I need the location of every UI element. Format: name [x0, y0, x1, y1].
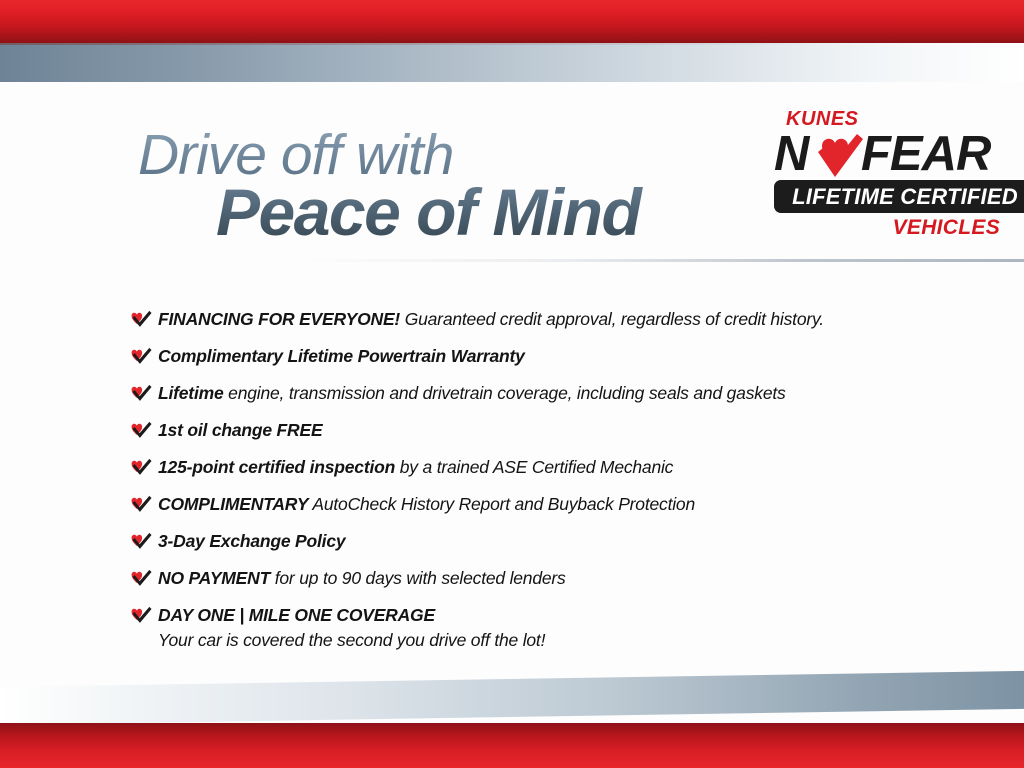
headline-line-2: Peace of Mind	[216, 178, 738, 247]
benefit-text-bold: NO PAYMENT	[158, 568, 270, 588]
logo-vehicles-text: VEHICLES	[893, 216, 1000, 240]
benefit-subtext: Your car is covered the second you drive…	[158, 629, 545, 651]
benefit-text: Lifetime engine, transmission and drivet…	[158, 382, 786, 404]
benefit-item: 1st oil change FREE	[130, 419, 950, 443]
heart-check-bullet-icon	[130, 569, 158, 591]
benefit-text: FINANCING FOR EVERYONE! Guaranteed credi…	[158, 308, 824, 330]
headline-block: Drive off with Peace of Mind	[138, 126, 738, 247]
benefit-text: 3-Day Exchange Policy	[158, 530, 345, 552]
benefit-text-bold: 1st oil change FREE	[158, 420, 322, 440]
benefit-item: FINANCING FOR EVERYONE! Guaranteed credi…	[130, 308, 950, 332]
benefit-text-rest: Guaranteed credit approval, regardless o…	[400, 309, 824, 329]
benefit-text-bold: COMPLIMENTARY	[158, 494, 308, 514]
benefit-item: 3-Day Exchange Policy	[130, 530, 950, 554]
benefit-text-rest: by a trained ASE Certified Mechanic	[395, 457, 673, 477]
benefit-text-rest: AutoCheck History Report and Buyback Pro…	[308, 494, 695, 514]
heart-check-bullet-icon	[130, 421, 158, 443]
top-red-band	[0, 0, 1024, 43]
heart-check-bullet-icon	[130, 606, 158, 628]
benefit-text: Complimentary Lifetime Powertrain Warran…	[158, 345, 525, 367]
heart-check-bullet-icon	[130, 384, 158, 406]
logo-letter-n: N	[774, 128, 808, 180]
benefit-text-bold: 3-Day Exchange Policy	[158, 531, 345, 551]
benefit-text-bold: Complimentary Lifetime Powertrain Warran…	[158, 346, 525, 366]
heart-check-icon	[808, 132, 864, 184]
benefit-item: NO PAYMENT for up to 90 days with select…	[130, 567, 950, 591]
benefit-text-bold: 125-point certified inspection	[158, 457, 395, 477]
benefit-item: Lifetime engine, transmission and drivet…	[130, 382, 950, 406]
logo-word-fear: FEAR	[861, 128, 990, 180]
benefit-text-rest: for up to 90 days with selected lenders	[270, 568, 566, 588]
benefit-text-rest: engine, transmission and drivetrain cove…	[224, 383, 786, 403]
benefit-item: COMPLIMENTARY AutoCheck History Report a…	[130, 493, 950, 517]
benefit-text: 125-point certified inspection by a trai…	[158, 456, 673, 478]
heart-check-bullet-icon	[130, 458, 158, 480]
benefit-text: 1st oil change FREE	[158, 419, 322, 441]
promo-poster: Drive off with Peace of Mind KUNES N FEA…	[0, 0, 1024, 768]
benefit-item: DAY ONE | MILE ONE COVERAGEYour car is c…	[130, 604, 950, 652]
benefit-item: Complimentary Lifetime Powertrain Warran…	[130, 345, 950, 369]
logo-lifetime-certified-bar: LIFETIME CERTIFIED	[774, 180, 1024, 213]
benefit-text-bold: FINANCING FOR EVERYONE!	[158, 309, 400, 329]
benefits-list: FINANCING FOR EVERYONE! Guaranteed credi…	[130, 308, 950, 665]
kunes-no-fear-logo: KUNES N FEAR LIFETIME CERTIFIED VEHICLES	[770, 108, 1024, 246]
benefit-text: DAY ONE | MILE ONE COVERAGEYour car is c…	[158, 604, 545, 652]
benefit-text: NO PAYMENT for up to 90 days with select…	[158, 567, 566, 589]
bottom-red-band	[0, 723, 1024, 768]
logo-lifetime-certified-text: LIFETIME CERTIFIED	[792, 184, 1018, 210]
heart-check-bullet-icon	[130, 532, 158, 554]
heart-check-bullet-icon	[130, 310, 158, 332]
bottom-gray-band	[0, 671, 1024, 725]
top-gray-band	[0, 43, 1024, 82]
logo-wordmark: N FEAR	[774, 128, 1024, 180]
benefit-text-bold: DAY ONE | MILE ONE COVERAGE	[158, 605, 435, 625]
benefit-text-bold: Lifetime	[158, 383, 224, 403]
headline-divider	[300, 259, 1024, 262]
heart-check-bullet-icon	[130, 347, 158, 369]
benefit-item: 125-point certified inspection by a trai…	[130, 456, 950, 480]
heart-check-bullet-icon	[130, 495, 158, 517]
benefit-text: COMPLIMENTARY AutoCheck History Report a…	[158, 493, 695, 515]
